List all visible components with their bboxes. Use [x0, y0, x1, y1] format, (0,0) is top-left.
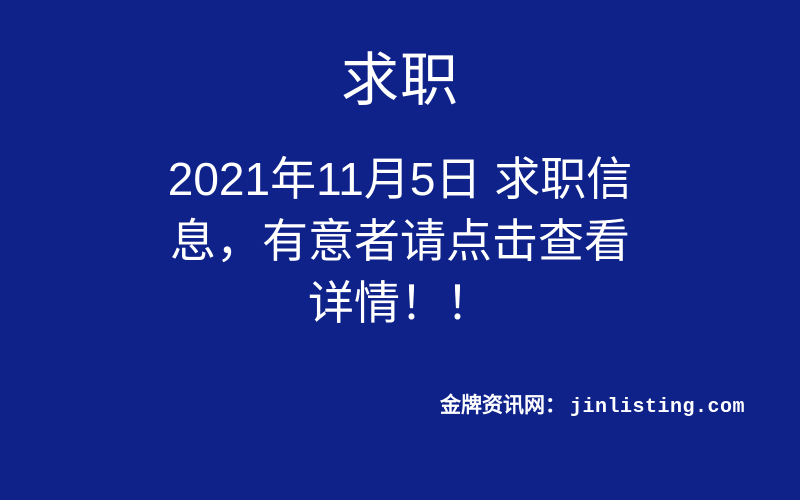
page-title: 求职: [0, 46, 800, 116]
poster-body-block: 2021年11月5日 求职信息，有意者请点击查看详情！！: [154, 148, 646, 334]
poster-title-block: 求职: [0, 46, 800, 116]
footer-site-url: jinlisting.com: [570, 396, 745, 420]
poster-body-text: 2021年11月5日 求职信息，有意者请点击查看详情！！: [154, 148, 646, 334]
poster-canvas: 求职 2021年11月5日 求职信息，有意者请点击查看详情！！ 金牌资讯网： j…: [0, 0, 800, 500]
footer-watermark: 金牌资讯网： jinlisting.com: [440, 394, 745, 420]
footer-site-label: 金牌资讯网：: [440, 394, 566, 418]
